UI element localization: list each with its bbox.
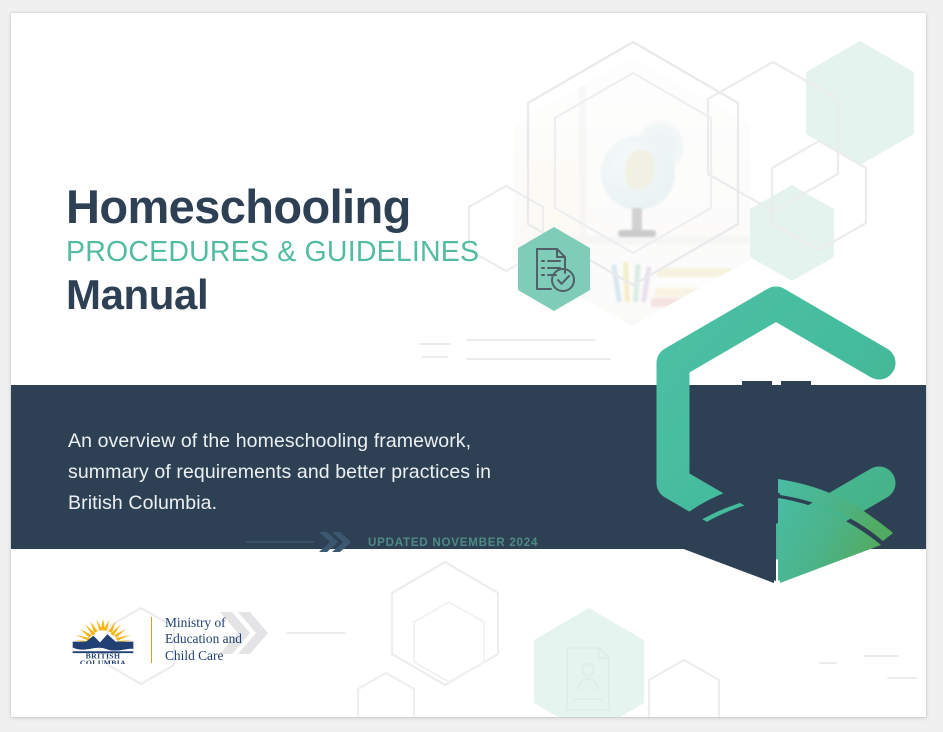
page-subtitle: PROCEDURES & GUIDELINES xyxy=(66,235,479,270)
double-chevron-icon xyxy=(318,530,352,554)
bc-sunburst-mountain-icon: BRITISH COLUMBIA xyxy=(66,615,140,664)
updated-label: UPDATED NOVEMBER 2024 xyxy=(368,536,538,549)
bc-government-logo: BRITISH COLUMBIA Ministry of Education a… xyxy=(66,615,242,664)
document-check-icon xyxy=(537,249,574,291)
updated-rule xyxy=(246,541,314,543)
outline-hexagon xyxy=(772,141,866,250)
outline-hexagon-photo xyxy=(555,73,711,253)
updated-row: UPDATED NOVEMBER 2024 xyxy=(246,530,538,554)
person-document-icon xyxy=(567,648,609,710)
logo-divider xyxy=(151,617,152,663)
teal-hexagon xyxy=(518,227,590,311)
document-check-badge xyxy=(506,221,602,327)
ministry-wordmark: Ministry of Education and Child Care xyxy=(165,615,242,664)
window-grid-icon xyxy=(742,381,811,450)
hexagon-school-book-icon xyxy=(611,281,926,641)
description-text: An overview of the homeschooling framewo… xyxy=(68,426,538,519)
bc-province-line2: COLUMBIA xyxy=(80,658,126,664)
outline-hexagon xyxy=(414,602,484,682)
cover-headline: Homeschooling PROCEDURES & GUIDELINES Ma… xyxy=(66,181,479,320)
cover-page: An overview of the homeschooling framewo… xyxy=(11,13,926,717)
ministry-line-1: Ministry of xyxy=(165,615,242,631)
ministry-line-3: Child Care xyxy=(165,648,242,664)
ministry-line-2: Education and xyxy=(165,631,242,647)
outline-hexagon-photo xyxy=(528,42,738,285)
mint-hexagon xyxy=(806,41,914,165)
outline-hexagon xyxy=(469,186,543,271)
page-title: Homeschooling xyxy=(66,181,479,234)
outline-hexagon xyxy=(392,562,498,685)
outline-hexagon xyxy=(649,660,719,717)
mint-hexagon xyxy=(750,185,834,281)
outline-hexagon xyxy=(708,62,838,211)
page-title-secondary: Manual xyxy=(66,271,479,320)
outline-hexagon xyxy=(358,673,414,717)
